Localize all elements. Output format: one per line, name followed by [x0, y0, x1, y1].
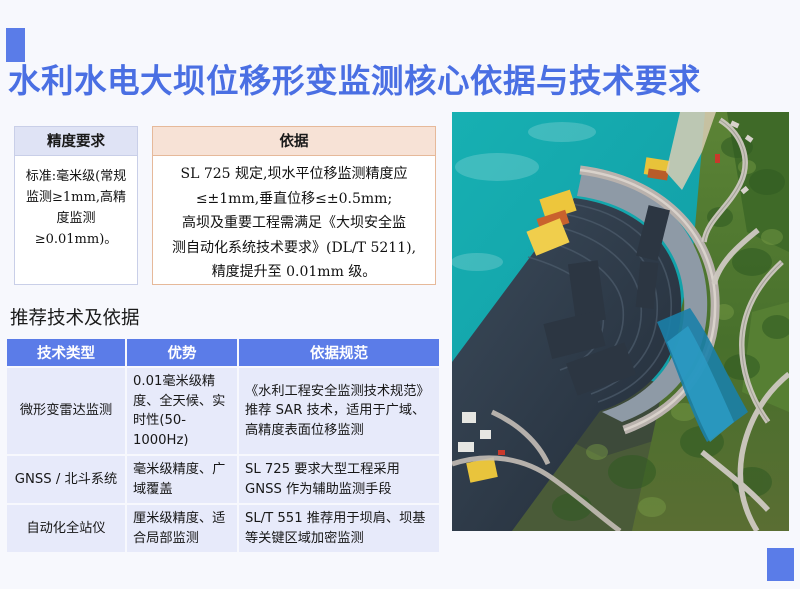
cell-tech-type: 微形变雷达监测: [7, 368, 125, 454]
cell-basis: SL/T 551 推荐用于坝肩、坝基等关键区域加密监测: [239, 505, 439, 552]
cell-tech-type: 自动化全站仪: [7, 505, 125, 552]
cell-advantage: 毫米级精度、广域覆盖: [127, 456, 237, 503]
table-header-row: 技术类型 优势 依据规范: [7, 339, 439, 366]
table-header-basis: 依据规范: [239, 339, 439, 366]
cell-basis: SL 725 要求大型工程采用 GNSS 作为辅助监测手段: [239, 456, 439, 503]
precision-card-header: 精度要求: [15, 127, 137, 156]
decorative-accent-bar-bottom-right: [767, 548, 794, 581]
recommended-technology-table: 技术类型 优势 依据规范 微形变雷达监测 0.01毫米级精度、全天候、实时性(5…: [5, 337, 441, 554]
basis-line-5: 精度提升至 0.01mm 级。: [163, 260, 425, 285]
precision-requirement-card: 精度要求 标准:毫米级(常规监测≥1mm,高精度监测≥0.01mm)。: [14, 126, 138, 285]
cell-basis: 《水利工程安全监测技术规范》推荐 SAR 技术，适用于广域、高精度表面位移监测: [239, 368, 439, 454]
cell-advantage: 0.01毫米级精度、全天候、实时性(50-1000Hz): [127, 368, 237, 454]
table-row: 自动化全站仪 厘米级精度、适合局部监测 SL/T 551 推荐用于坝肩、坝基等关…: [7, 505, 439, 552]
basis-card-body: SL 725 规定,坝水平位移监测精度应 ≤±1mm,垂直位移≤±0.5mm; …: [153, 156, 435, 285]
table-row: GNSS / 北斗系统 毫米级精度、广域覆盖 SL 725 要求大型工程采用 G…: [7, 456, 439, 503]
table-header-advantage: 优势: [127, 339, 237, 366]
cell-advantage: 厘米级精度、适合局部监测: [127, 505, 237, 552]
table-header-tech-type: 技术类型: [7, 339, 125, 366]
basis-card-header: 依据: [153, 127, 435, 156]
dam-illustration: [452, 112, 789, 531]
table-row: 微形变雷达监测 0.01毫米级精度、全天候、实时性(50-1000Hz) 《水利…: [7, 368, 439, 454]
dam-aerial-photo: [452, 112, 789, 531]
basis-line-1: SL 725 规定,坝水平位移监测精度应: [163, 162, 425, 187]
precision-card-body: 标准:毫米级(常规监测≥1mm,高精度监测≥0.01mm)。: [15, 156, 137, 250]
page-title: 水利水电大坝位移形变监测核心依据与技术要求: [8, 55, 788, 102]
section-heading-recommended-tech: 推荐技术及依据: [10, 304, 140, 330]
cell-tech-type: GNSS / 北斗系统: [7, 456, 125, 503]
basis-line-4: 测自动化系统技术要求》(DL/T 5211),: [163, 236, 425, 261]
slide-root: 水利水电大坝位移形变监测核心依据与技术要求 精度要求 标准:毫米级(常规监测≥1…: [0, 0, 800, 589]
basis-line-2: ≤±1mm,垂直位移≤±0.5mm;: [163, 187, 425, 212]
basis-card: 依据 SL 725 规定,坝水平位移监测精度应 ≤±1mm,垂直位移≤±0.5m…: [152, 126, 436, 285]
basis-line-3: 高坝及重要工程需满足《大坝安全监: [163, 211, 425, 236]
